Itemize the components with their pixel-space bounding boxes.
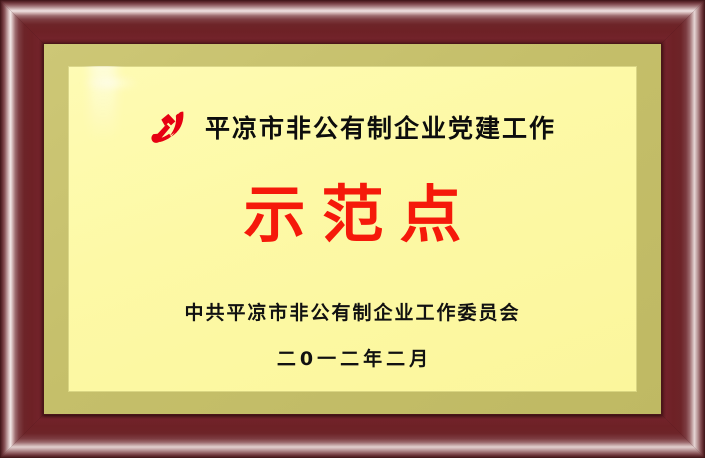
heading-row: 平凉市非公有制企业党建工作 [68,106,637,150]
award-plaque: 平凉市非公有制企业党建工作 示范点 中共平凉市非公有制企业工作委员会 二0一二年… [0,0,705,458]
frame-left-edge [0,0,44,458]
panel-glare-highlight-2 [82,74,140,92]
mat-board: 平凉市非公有制企业党建工作 示范点 中共平凉市非公有制企业工作委员会 二0一二年… [44,44,661,414]
issuing-organization: 中共平凉市非公有制企业工作委员会 [68,304,637,323]
frame-right-edge [661,0,705,458]
plaque-main-title: 示范点 [68,184,637,246]
inner-panel: 平凉市非公有制企业党建工作 示范点 中共平凉市非公有制企业工作委员会 二0一二年… [68,66,637,392]
frame-top-edge [0,0,705,44]
issue-date: 二0一二年二月 [68,350,637,369]
plaque-heading: 平凉市非公有制企业党建工作 [205,116,556,141]
frame-bottom-edge [0,414,705,458]
cpc-emblem-icon [149,106,193,150]
